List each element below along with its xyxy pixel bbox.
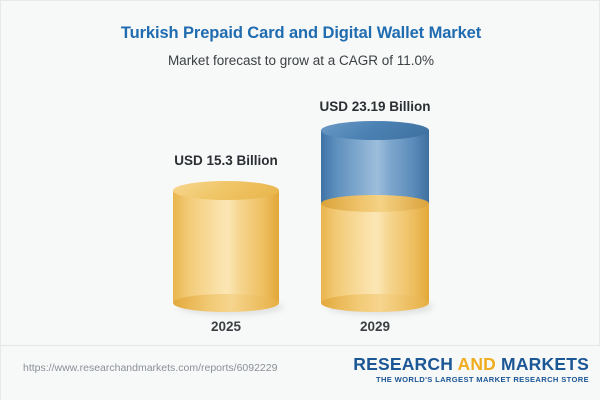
category-label-2029: 2029 — [275, 319, 475, 334]
report-url-link[interactable]: https://www.researchandmarkets.com/repor… — [23, 362, 277, 374]
footer: https://www.researchandmarkets.com/repor… — [1, 346, 600, 400]
cylinder-2029[interactable] — [321, 121, 429, 311]
data-label-2029: USD 23.19 Billion — [275, 99, 475, 114]
logo-tagline: THE WORLD'S LARGEST MARKET RESEARCH STOR… — [353, 375, 589, 384]
logo-wordmark: RESEARCH AND MARKETS — [353, 355, 589, 373]
cylinder-segment-divider-2029 — [321, 195, 429, 212]
cylinder-top-2029 — [321, 121, 429, 140]
bar-group-2029: USD 23.19 Billion 2029 — [1, 1, 600, 346]
cylinder-segment-base-2029 — [321, 204, 429, 302]
plot-area: USD 15.3 Billion 2025 USD 23.19 Billion — [1, 1, 600, 346]
cylinder-segment-growth-2029 — [321, 130, 429, 204]
chart-canvas: Turkish Prepaid Card and Digital Wallet … — [0, 0, 600, 400]
logo-word-and: AND — [457, 354, 496, 374]
logo-word-markets: MARKETS — [496, 354, 589, 374]
cylinder-body-2029 — [321, 130, 429, 302]
cylinder-bottom-2029 — [321, 294, 429, 312]
research-and-markets-logo[interactable]: RESEARCH AND MARKETS THE WORLD'S LARGEST… — [353, 355, 589, 384]
logo-word-research: RESEARCH — [353, 354, 457, 374]
